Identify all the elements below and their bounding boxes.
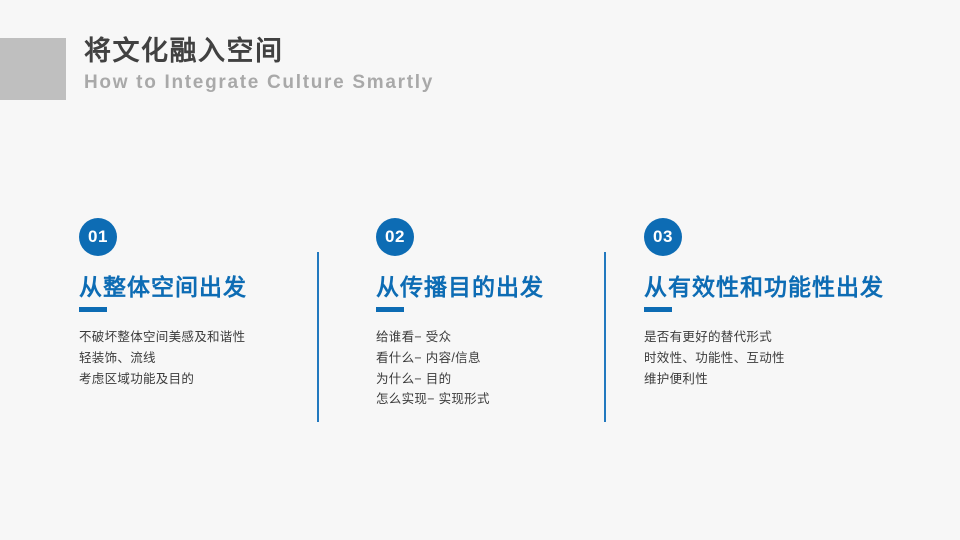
- body-line: 怎么实现− 实现形式: [376, 389, 596, 410]
- step-badge-02: 02: [376, 218, 414, 256]
- column-divider-2: [604, 252, 606, 422]
- column-divider-1: [317, 252, 319, 422]
- body-line: 不破坏整体空间美感及和谐性: [79, 327, 309, 348]
- content-column-3: 03 从有效性和功能性出发 是否有更好的替代形式 时效性、功能性、互动性 维护便…: [644, 218, 894, 389]
- step-badge-01: 01: [79, 218, 117, 256]
- column-body-3: 是否有更好的替代形式 时效性、功能性、互动性 维护便利性: [644, 327, 894, 389]
- page-title: 将文化融入空间: [84, 34, 434, 68]
- body-line: 考虑区域功能及目的: [79, 369, 309, 390]
- content-columns: 01 从整体空间出发 不破坏整体空间美感及和谐性 轻装饰、流线 考虑区域功能及目…: [0, 218, 960, 438]
- column-heading-3: 从有效性和功能性出发: [644, 273, 894, 301]
- column-body-1: 不破坏整体空间美感及和谐性 轻装饰、流线 考虑区域功能及目的: [79, 327, 309, 389]
- body-line: 是否有更好的替代形式: [644, 327, 894, 348]
- body-line: 为什么− 目的: [376, 369, 596, 390]
- column-body-2: 给谁看− 受众 看什么− 内容/信息 为什么− 目的 怎么实现− 实现形式: [376, 327, 596, 410]
- header-accent-block: [0, 38, 66, 100]
- body-line: 时效性、功能性、互动性: [644, 348, 894, 369]
- body-line: 给谁看− 受众: [376, 327, 596, 348]
- column-heading-1: 从整体空间出发: [79, 273, 309, 301]
- heading-rule-1: [79, 307, 107, 312]
- heading-rule-2: [376, 307, 404, 312]
- heading-rule-3: [644, 307, 672, 312]
- body-line: 看什么− 内容/信息: [376, 348, 596, 369]
- step-badge-03: 03: [644, 218, 682, 256]
- column-heading-2: 从传播目的出发: [376, 273, 596, 301]
- slide-header: 将文化融入空间 How to Integrate Culture Smartly: [0, 38, 960, 108]
- content-column-1: 01 从整体空间出发 不破坏整体空间美感及和谐性 轻装饰、流线 考虑区域功能及目…: [79, 218, 309, 389]
- body-line: 轻装饰、流线: [79, 348, 309, 369]
- header-text-group: 将文化融入空间 How to Integrate Culture Smartly: [84, 34, 434, 96]
- content-column-2: 02 从传播目的出发 给谁看− 受众 看什么− 内容/信息 为什么− 目的 怎么…: [376, 218, 596, 410]
- body-line: 维护便利性: [644, 369, 894, 390]
- page-subtitle: How to Integrate Culture Smartly: [84, 70, 434, 96]
